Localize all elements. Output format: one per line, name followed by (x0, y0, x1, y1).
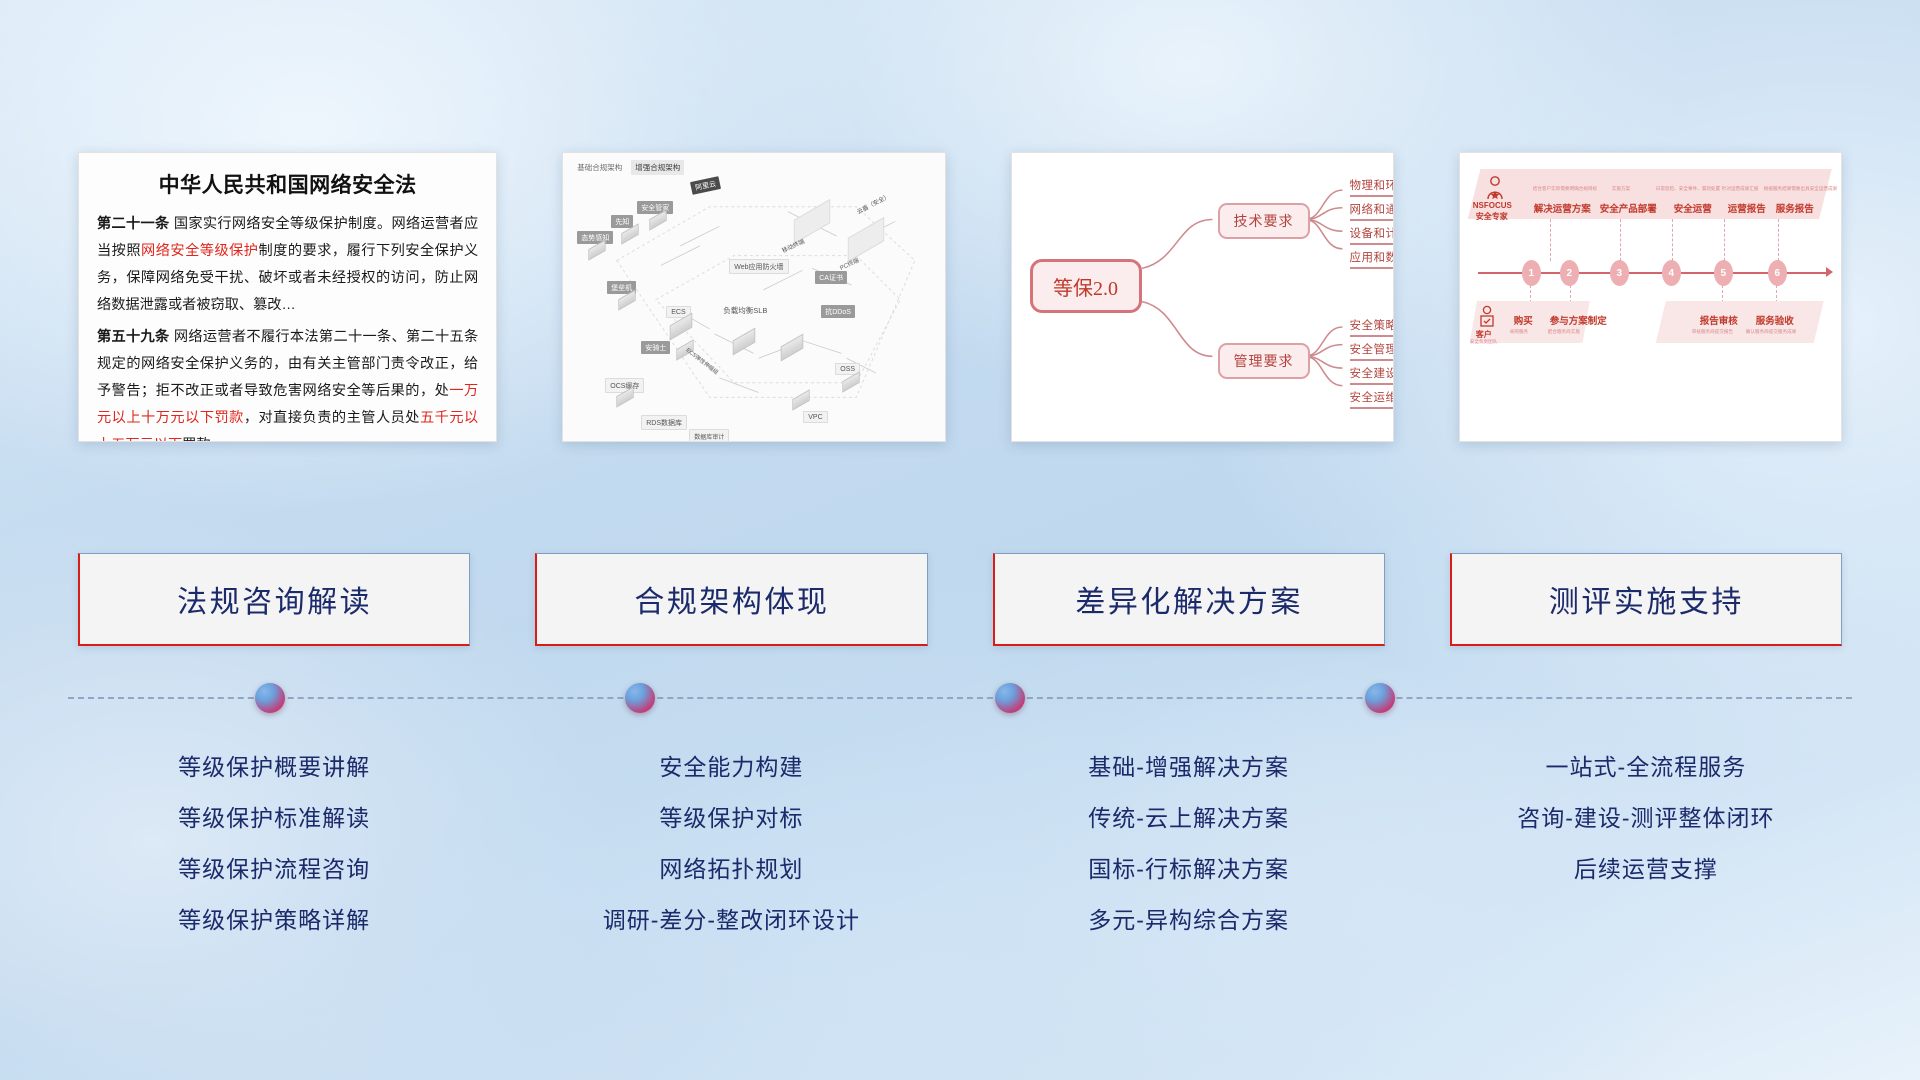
mindmap-leaf-network: 网络和通信安全 (1350, 201, 1394, 221)
nsfocus-step4-sub: 针对运营成果汇报 (1722, 186, 1759, 192)
list-item: 网络拓扑规划 (535, 844, 927, 895)
mindmap-leaf-device: 设备和计算安全 (1350, 225, 1394, 245)
cloud-node-xianzhi: 先知 (611, 215, 633, 228)
nsfocus-connector-bottom-3 (1722, 285, 1723, 303)
column-assessment-support: 一站式-全流程服务 咨询-建设-测评整体闭环 后续运营支撑 (1450, 742, 1842, 972)
section-headers-row: 法规咨询解读 合规架构体现 差异化解决方案 测评实施支持 (78, 553, 1842, 646)
nsfocus-bottom-step1-sub: 采购服务 (1510, 329, 1528, 335)
list-item: 等级保护流程咨询 (78, 844, 470, 895)
cloud-node-safe-butler: 安全管家 (637, 201, 673, 214)
card-mindmap[interactable]: 等保2.0 技术要求 物理和环境安全 网络和通信安全 设备和计算安全 应用和数据… (1011, 152, 1394, 442)
mindmap-leaf-org: 安全管理机构和人员 (1350, 341, 1394, 361)
cloud-node-slb: 负载均衡SLB (723, 305, 767, 316)
nsfocus-step3-title: 安全运营 (1674, 201, 1712, 215)
column-regulation-consulting: 等级保护概要讲解 等级保护标准解读 等级保护流程咨询 等级保护策略详解 (78, 742, 470, 972)
article-59-label: 第五十九条 (97, 329, 170, 345)
list-item: 后续运营支撑 (1450, 844, 1842, 895)
header-box-compliance-architecture[interactable]: 合规架构体现 (535, 553, 927, 646)
nsfocus-connector-top-1 (1550, 219, 1551, 261)
header-box-assessment-support[interactable]: 测评实施支持 (1450, 553, 1842, 646)
cloud-node-ca: CA证书 (815, 271, 847, 284)
cloud-node-rds: RDS数据库 (641, 415, 687, 430)
nsfocus-connector-bottom-2 (1570, 285, 1571, 303)
article-21-label: 第二十一条 (97, 216, 170, 232)
nsfocus-step5-sub: 根据服务结果需要出具安全运营成果 (1764, 186, 1838, 192)
nsfocus-connector-bottom-1 (1530, 285, 1531, 303)
nsfocus-bottom-right-band (1656, 301, 1824, 343)
customer-person-icon (1478, 305, 1496, 329)
article-59-text-b: ，对直接负责的主管人员处 (244, 410, 420, 426)
card-nsfocus-timeline[interactable]: NSFOCUS 安全专家 结合客户实际需要明确合规目标 解决运营方案 实施方案 … (1459, 152, 1842, 442)
list-item: 传统-云上解决方案 (993, 793, 1385, 844)
nsfocus-timeline-node-3: 3 (1610, 260, 1629, 286)
timeline-marker-2[interactable] (625, 683, 655, 713)
list-item: 安全能力构建 (535, 742, 927, 793)
list-item: 等级保护对标 (535, 793, 927, 844)
nsfocus-role-line2: 安全专家 (1476, 211, 1508, 222)
mindmap-branch-technical: 技术要求 (1218, 203, 1310, 239)
header-label-3: 差异化解决方案 (1075, 577, 1303, 621)
nsfocus-timeline-node-2: 2 (1560, 260, 1579, 286)
law-article-59: 第五十九条 网络运营者不履行本法第二十一条、第二十五条规定的网络安全保护义务的，… (97, 324, 478, 442)
card-law-document[interactable]: 中华人民共和国网络安全法 第二十一条 国家实行网络安全等级保护制度。网络运营者应… (78, 152, 497, 442)
list-item: 调研-差分-整改闭环设计 (535, 895, 927, 946)
column-compliance-architecture: 安全能力构建 等级保护对标 网络拓扑规划 调研-差分-整改闭环设计 (535, 742, 927, 972)
mindmap-branch-management: 管理要求 (1218, 343, 1310, 379)
column-differentiated-solution: 基础-增强解决方案 传统-云上解决方案 国标-行标解决方案 多元-异构综合方案 (993, 742, 1385, 972)
nsfocus-timeline-node-5: 5 (1714, 260, 1733, 286)
list-item: 等级保护标准解读 (78, 793, 470, 844)
law-title: 中华人民共和国网络安全法 (97, 169, 478, 199)
nsfocus-timeline-arrow-icon (1826, 267, 1833, 277)
nsfocus-connector-top-2 (1620, 219, 1621, 261)
mindmap-leaf-policy: 安全策略和管理制度 (1350, 317, 1394, 337)
nsfocus-bottom-step4-sub: 确认服务商提交服务成果 (1746, 329, 1797, 335)
nsfocus-bottom-step2-sub: 配合服务商实施 (1548, 329, 1580, 335)
timeline-marker-4[interactable] (1365, 683, 1395, 713)
nsfocus-bottom-step3-title: 报告审核 (1700, 313, 1738, 327)
mindmap-leaf-physical: 物理和环境安全 (1350, 177, 1394, 197)
timeline-marker-3[interactable] (995, 683, 1025, 713)
header-box-differentiated-solution[interactable]: 差异化解决方案 (993, 553, 1385, 646)
list-item: 咨询-建设-测评整体闭环 (1450, 793, 1842, 844)
article-21-highlight: 网络安全等级保护 (141, 243, 258, 259)
nsfocus-connector-bottom-4 (1776, 285, 1777, 303)
nsfocus-step5-title: 服务报告 (1776, 201, 1814, 215)
nsfocus-timeline-node-4: 4 (1662, 260, 1681, 286)
list-item: 多元-异构综合方案 (993, 895, 1385, 946)
nsfocus-timeline-node-6: 6 (1768, 260, 1787, 286)
timeline-marker-1[interactable] (255, 683, 285, 713)
cloud-node-anqishi: 安骑士 (641, 341, 670, 354)
nsfocus-bottom-step2-title: 参与方案制定 (1550, 313, 1607, 327)
header-box-regulation-consulting[interactable]: 法规咨询解读 (78, 553, 470, 646)
list-item: 基础-增强解决方案 (993, 742, 1385, 793)
nsfocus-bottom-step1-title: 购买 (1514, 313, 1533, 327)
mindmap-leaf-operations: 安全运维管理 (1350, 389, 1394, 409)
mindmap-leaf-application: 应用和数据安全 (1350, 249, 1394, 269)
list-item: 等级保护概要讲解 (78, 742, 470, 793)
mindmap-leaf-construction: 安全建设管理 (1350, 365, 1394, 385)
article-59-text-c: 罚款。 (182, 437, 225, 442)
nsfocus-timeline-node-1: 1 (1522, 260, 1541, 286)
nsfocus-connector-top-4 (1724, 219, 1725, 261)
nsfocus-step2-sub: 实施方案 (1612, 186, 1630, 192)
preview-cards-row: 中华人民共和国网络安全法 第二十一条 国家实行网络安全等级保护制度。网络运营者应… (78, 152, 1842, 442)
cloud-node-db-audit: 数据库审计 (689, 429, 729, 442)
nsfocus-step3-sub: 日常巡检、安全事件、漏洞处置 (1656, 186, 1720, 192)
card-cloud-architecture[interactable]: 基础合规架构 增强合规架构 阿里云 安全管家 先知 态势感知 堡垒机 (562, 152, 945, 442)
list-item: 国标-行标解决方案 (993, 844, 1385, 895)
cloud-node-situation: 态势感知 (577, 231, 613, 244)
nsfocus-step4-title: 运营报告 (1728, 201, 1766, 215)
mindmap-center-node: 等保2.0 (1030, 259, 1142, 313)
detail-columns-row: 等级保护概要讲解 等级保护标准解读 等级保护流程咨询 等级保护策略详解 安全能力… (78, 742, 1842, 972)
nsfocus-step1-sub: 结合客户实际需要明确合规目标 (1533, 186, 1597, 192)
header-label-1: 法规咨询解读 (177, 577, 372, 621)
cloud-node-antiddos: 抗DDoS (821, 305, 855, 318)
nsfocus-role-line1: NSFOCUS (1473, 201, 1512, 210)
list-item: 一站式-全流程服务 (1450, 742, 1842, 793)
nsfocus-customer-sub: 安全负责团队 (1470, 339, 1498, 345)
law-article-21: 第二十一条 国家实行网络安全等级保护制度。网络运营者应当按照网络安全等级保护制度… (97, 211, 478, 319)
nsfocus-connector-top-5 (1778, 219, 1779, 261)
list-item: 等级保护策略详解 (78, 895, 470, 946)
nsfocus-bottom-step3-sub: 审核服务商提交报告 (1692, 329, 1733, 335)
header-label-2: 合规架构体现 (634, 577, 829, 621)
cloud-node-vpc: VPC (803, 411, 827, 423)
nsfocus-step2-title: 安全产品部署 (1600, 201, 1657, 215)
nsfocus-step1-title: 解决运营方案 (1534, 201, 1591, 215)
cloud-node-waf: Web应用防火墙 (729, 259, 788, 274)
nsfocus-connector-top-3 (1672, 219, 1673, 261)
nsfocus-bottom-step4-title: 服务验收 (1756, 313, 1794, 327)
expert-person-icon (1484, 175, 1506, 201)
header-label-4: 测评实施支持 (1549, 577, 1744, 621)
timeline-track (68, 697, 1852, 699)
